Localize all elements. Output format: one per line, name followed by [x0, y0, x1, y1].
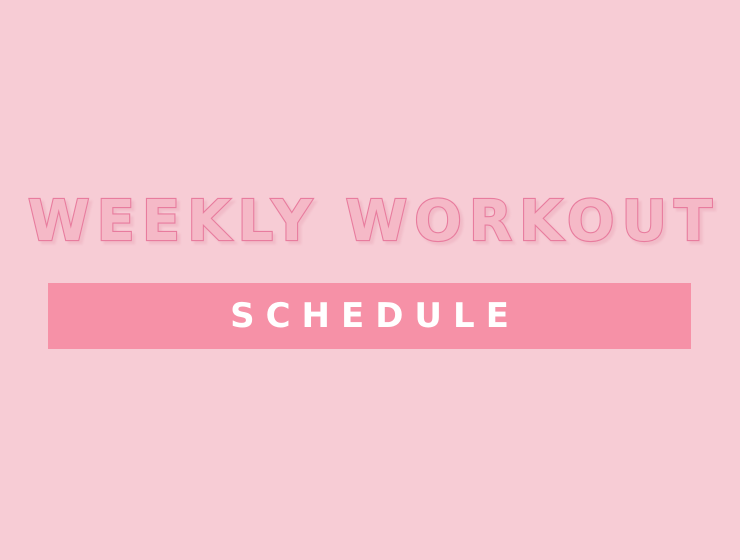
title-stack: WEEKLY WORKOUT WEEKLY WORKOUT: [21, 194, 719, 250]
poster-title: WEEKLY WORKOUT WEEKLY WORKOUT: [0, 191, 740, 253]
poster-canvas: WEEKLY WORKOUT WEEKLY WORKOUT SCHEDULE: [0, 0, 740, 560]
subtitle-text: SCHEDULE: [219, 299, 520, 333]
subtitle-band: SCHEDULE: [48, 283, 691, 349]
title-outline-text: WEEKLY WORKOUT: [21, 194, 719, 250]
